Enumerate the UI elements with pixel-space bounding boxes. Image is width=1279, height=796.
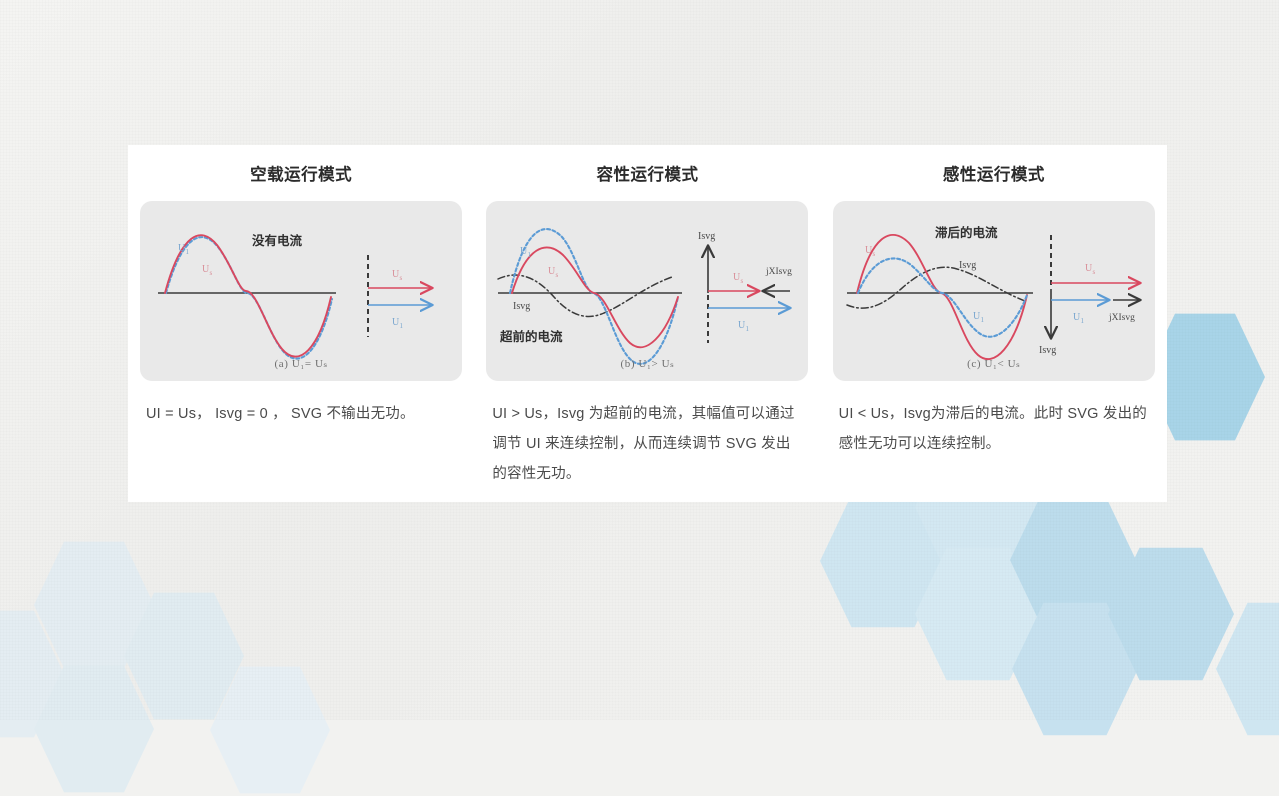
- caption-text-no-load: UI = Us， Isvg = 0 ， SVG 不输出无功。: [146, 406, 415, 422]
- label-us-sub: s: [872, 250, 875, 258]
- subcaption-capacitive: (b) U₁> Uₛ: [486, 357, 808, 370]
- caption-text-inductive: UI < Us，Isvg为滞后的电流。此时 SVG 发出的感性无功可以连续控制。: [839, 406, 1147, 452]
- curve-us: [165, 235, 331, 356]
- phasor-label-u1-sub: 1: [1080, 317, 1084, 325]
- figure-no-load: U 1 U s 没有电流 U s U 1 (a) U₁= Uₛ: [140, 201, 462, 381]
- caption-text-capacitive: UI > Us，Isvg 为超前的电流，其幅值可以通过调节 UI 来连续控制，从…: [492, 406, 794, 482]
- caption-capacitive: UI > Us，Isvg 为超前的电流，其幅值可以通过调节 UI 来连续控制，从…: [492, 399, 802, 489]
- phasor-label-jx-isvg: jXIsvg: [1108, 313, 1135, 323]
- label-us-sub: s: [556, 271, 559, 279]
- phasor-label-us-sub: s: [400, 274, 403, 282]
- label-isvg: Isvg: [513, 301, 530, 312]
- figure-note-capacitive: 超前的电流: [499, 329, 563, 344]
- phasor-label-jx-isvg: jXIsvg: [765, 267, 792, 277]
- phasor-label-us-sub: s: [741, 277, 744, 285]
- panel-capacitive: 容性运行模式: [474, 145, 820, 502]
- panel-inductive: 感性运行模式: [821, 145, 1167, 502]
- caption-no-load: UI = Us， Isvg = 0 ， SVG 不输出无功。: [146, 399, 456, 429]
- panel-title-capacitive: 容性运行模式: [484, 161, 810, 185]
- label-u1-sub: 1: [980, 316, 984, 324]
- panel-no-load: 空载运行模式: [128, 145, 474, 502]
- label-isvg: Isvg: [959, 260, 976, 271]
- subcaption-inductive: (c) U₁< Uₛ: [833, 357, 1155, 370]
- content-card: 空载运行模式: [128, 145, 1167, 502]
- phasor-label-isvg-axis: Isvg: [1039, 345, 1056, 356]
- phasor-label-u1-sub: 1: [400, 322, 404, 330]
- subcaption-no-load: (a) U₁= Uₛ: [140, 357, 462, 370]
- panel-row: 空载运行模式: [128, 145, 1167, 502]
- phasor-label-isvg-axis: Isvg: [698, 231, 715, 242]
- phasor-label-us-sub: s: [1092, 268, 1095, 276]
- label-u1-sub: 1: [186, 248, 190, 256]
- curve-u1: [858, 258, 1027, 336]
- figure-inductive: U s Isvg U 1 滞后的电流 Isvg: [833, 201, 1155, 381]
- panel-title-inductive: 感性运行模式: [831, 161, 1157, 185]
- curve-us: [857, 235, 1027, 359]
- phasor-label-u1-sub: 1: [746, 325, 750, 333]
- caption-inductive: UI < Us，Isvg为滞后的电流。此时 SVG 发出的感性无功可以连续控制。: [839, 399, 1149, 459]
- figure-capacitive-svg: U 1 U s Isvg 超前的电流 Isvg: [486, 201, 808, 381]
- figure-note-no-load: 没有电流: [252, 233, 303, 248]
- figure-no-load-svg: U 1 U s 没有电流 U s U 1: [140, 201, 462, 381]
- label-us-sub: s: [210, 269, 213, 277]
- panel-title-no-load: 空载运行模式: [138, 161, 464, 185]
- figure-inductive-svg: U s Isvg U 1 滞后的电流 Isvg: [833, 201, 1155, 381]
- figure-capacitive: U 1 U s Isvg 超前的电流 Isvg: [486, 201, 808, 381]
- curve-u1: [166, 237, 332, 359]
- label-u1-sub: 1: [528, 251, 532, 259]
- figure-note-inductive: 滞后的电流: [935, 225, 998, 240]
